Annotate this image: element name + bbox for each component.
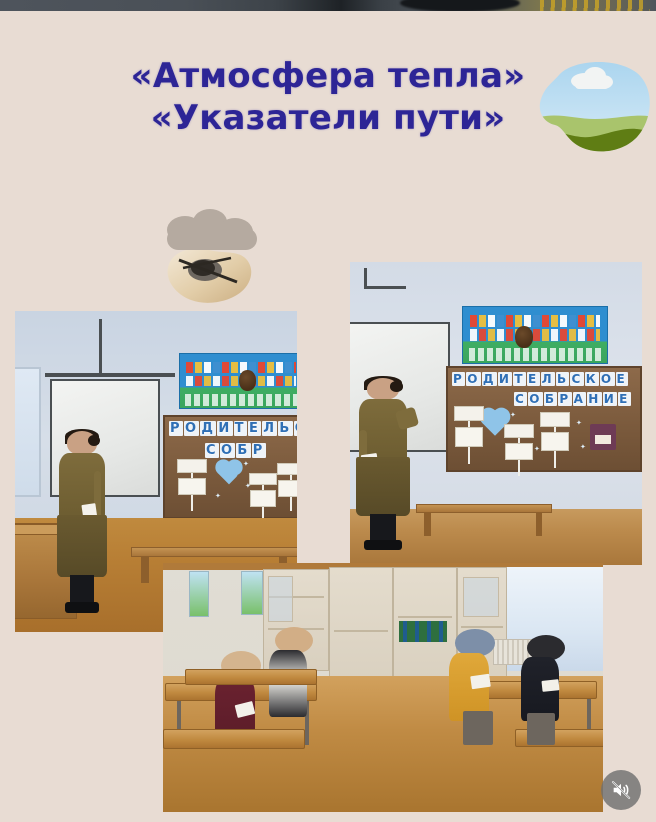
presenter xyxy=(55,431,109,613)
snowflake-icon: ✦ xyxy=(243,461,249,468)
projector-rail xyxy=(45,373,175,377)
letter-tiles-row-1 xyxy=(470,315,600,327)
signpost-1 xyxy=(177,459,207,511)
parent-seated-4 xyxy=(521,635,559,721)
letter-tiles-row-2 xyxy=(470,329,600,340)
signpost-3 xyxy=(540,412,570,468)
strip-streaks xyxy=(540,0,650,11)
strip-dark-shape xyxy=(400,0,520,11)
cabinet-unit-center xyxy=(329,567,393,689)
photo-right: РОДИТЕЛЬСКОЕ СОБРАНИЕ ✦ xyxy=(350,262,642,565)
window xyxy=(15,367,41,497)
desk xyxy=(163,729,305,749)
number-row xyxy=(185,394,297,406)
projector-rail xyxy=(364,286,406,289)
mute-button[interactable] xyxy=(601,770,641,810)
bear-mascot xyxy=(515,326,533,348)
previous-media-strip xyxy=(0,0,656,11)
projector-mount xyxy=(99,319,102,377)
title-line-2: «Указатели пути» xyxy=(0,97,656,139)
chair-back xyxy=(463,711,493,745)
snowflake-icon: ✦ xyxy=(215,493,221,500)
alphabet-board xyxy=(462,306,608,364)
mailbox-icon xyxy=(590,424,616,450)
heart-decoration xyxy=(218,462,241,485)
speaker-muted-icon xyxy=(610,779,632,801)
bench xyxy=(416,504,552,536)
title-line-1: «Атмосфера тепла» xyxy=(0,55,656,97)
snowflake-icon: ✦ xyxy=(510,412,516,419)
snowflake-icon: ✦ xyxy=(534,446,540,453)
classroom-scene-bottom xyxy=(163,563,603,812)
bulletin-board-title-line-2: СОБР xyxy=(205,443,267,458)
parent-seated-3 xyxy=(449,629,489,721)
classroom-scene-right: РОДИТЕЛЬСКОЕ СОБРАНИЕ ✦ xyxy=(350,262,642,565)
signpost-2 xyxy=(504,424,534,476)
cloud-sand-blob xyxy=(155,208,273,308)
bulletin-board-title-line-1: РОДИТЕЛЬСКОЕ xyxy=(452,372,629,386)
page-title: «Атмосфера тепла» «Указатели пути» xyxy=(0,55,656,139)
slide-canvas: «Атмосфера тепла» «Указатели пути» xyxy=(0,0,656,822)
cabinet-unit-right xyxy=(393,567,457,689)
signpost-1 xyxy=(454,406,484,464)
bulletin-board-title-line-1: РОДИТЕЛЬСК xyxy=(169,421,297,436)
bear-mascot xyxy=(239,370,256,391)
poster xyxy=(189,571,209,617)
photo-bottom xyxy=(163,563,603,812)
desk xyxy=(185,669,317,685)
cloud-shape xyxy=(167,209,257,250)
books xyxy=(399,621,447,643)
bulletin-board-title-line-2: СОБРАНИЕ xyxy=(514,392,632,406)
presenter xyxy=(354,378,412,550)
chair-back xyxy=(527,713,555,745)
number-row xyxy=(469,348,602,360)
bulletin-board: РОДИТЕЛЬСК СОБР ✦ ✦ ✦ xyxy=(163,415,297,519)
snowflake-icon: ✦ xyxy=(576,420,582,427)
projector-mount xyxy=(364,268,367,288)
snowflake-icon: ✦ xyxy=(245,483,251,490)
signpost-3 xyxy=(277,463,297,511)
poster xyxy=(241,571,263,615)
snowflake-icon: ✦ xyxy=(580,444,586,451)
alphabet-board xyxy=(179,353,297,409)
signpost-2 xyxy=(249,473,277,521)
bulletin-board: РОДИТЕЛЬСКОЕ СОБРАНИЕ ✦ xyxy=(446,366,642,472)
